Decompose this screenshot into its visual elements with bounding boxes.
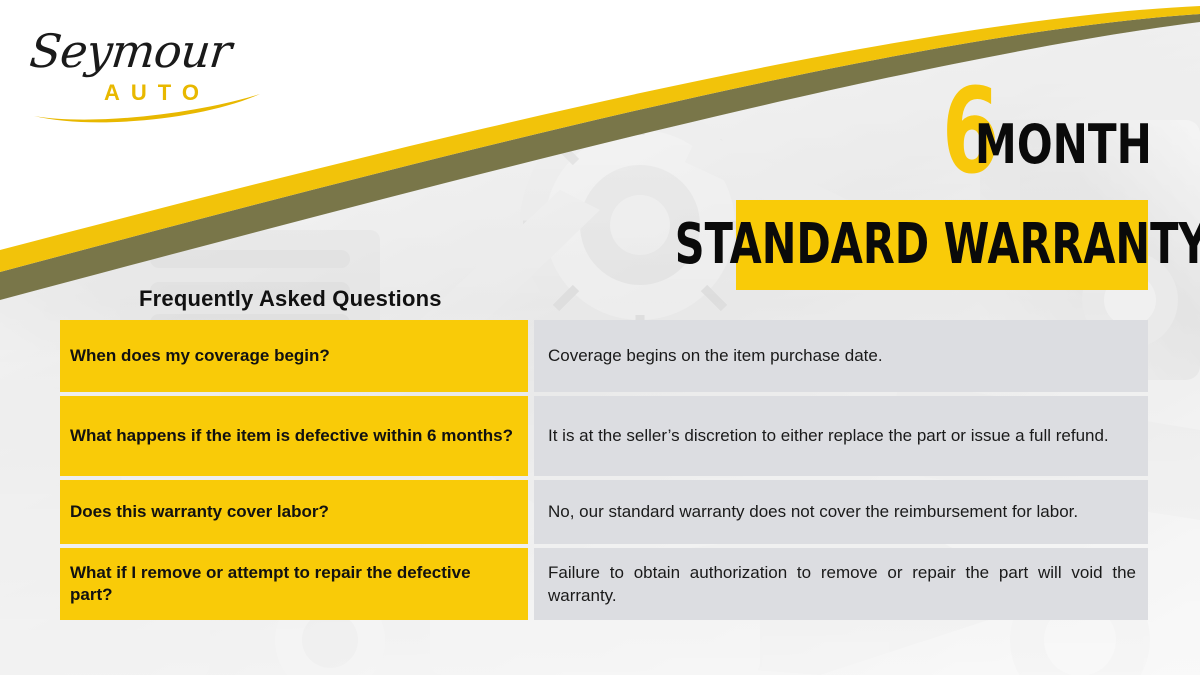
standard-warranty-banner: STANDARD WARRANTY <box>736 200 1148 290</box>
logo-wordmark: Seymour <box>27 24 233 78</box>
faq-question-cell: What if I remove or attempt to repair th… <box>60 548 528 620</box>
faq-answer-text: No, our standard warranty does not cover… <box>548 500 1136 523</box>
faq-answer-cell: Failure to obtain authorization to remov… <box>534 548 1148 620</box>
faq-question-text: When does my coverage begin? <box>70 345 330 367</box>
brand-logo: Seymour AUTO <box>22 18 262 128</box>
faq-question-text: What if I remove or attempt to repair th… <box>70 562 516 607</box>
faq-answer-text: It is at the seller’s discretion to eith… <box>548 424 1136 447</box>
faq-question-cell: What happens if the item is defective wi… <box>60 396 528 476</box>
faq-question-cell: Does this warranty cover labor? <box>60 480 528 544</box>
faq-row: Does this warranty cover labor? No, our … <box>60 480 1148 544</box>
faq-row: What happens if the item is defective wi… <box>60 396 1148 476</box>
warranty-slide: Seymour AUTO 6 MONTH STANDARD WARRANTY F… <box>0 0 1200 675</box>
warranty-duration-headline: 6 MONTH <box>900 78 1156 188</box>
duration-unit: MONTH <box>975 118 1152 172</box>
faq-table: When does my coverage begin? Coverage be… <box>60 320 1148 620</box>
faq-answer-text: Coverage begins on the item purchase dat… <box>548 344 1136 367</box>
faq-answer-cell: It is at the seller’s discretion to eith… <box>534 396 1148 476</box>
banner-label: STANDARD WARRANTY <box>675 217 1200 273</box>
faq-answer-text: Failure to obtain authorization to remov… <box>548 561 1136 608</box>
faq-heading: Frequently Asked Questions <box>139 288 442 310</box>
faq-row: When does my coverage begin? Coverage be… <box>60 320 1148 392</box>
logo-subtext: AUTO <box>104 80 210 106</box>
faq-question-text: What happens if the item is defective wi… <box>70 425 513 447</box>
faq-question-cell: When does my coverage begin? <box>60 320 528 392</box>
faq-row: What if I remove or attempt to repair th… <box>60 548 1148 620</box>
faq-answer-cell: No, our standard warranty does not cover… <box>534 480 1148 544</box>
faq-question-text: Does this warranty cover labor? <box>70 501 329 523</box>
faq-answer-cell: Coverage begins on the item purchase dat… <box>534 320 1148 392</box>
